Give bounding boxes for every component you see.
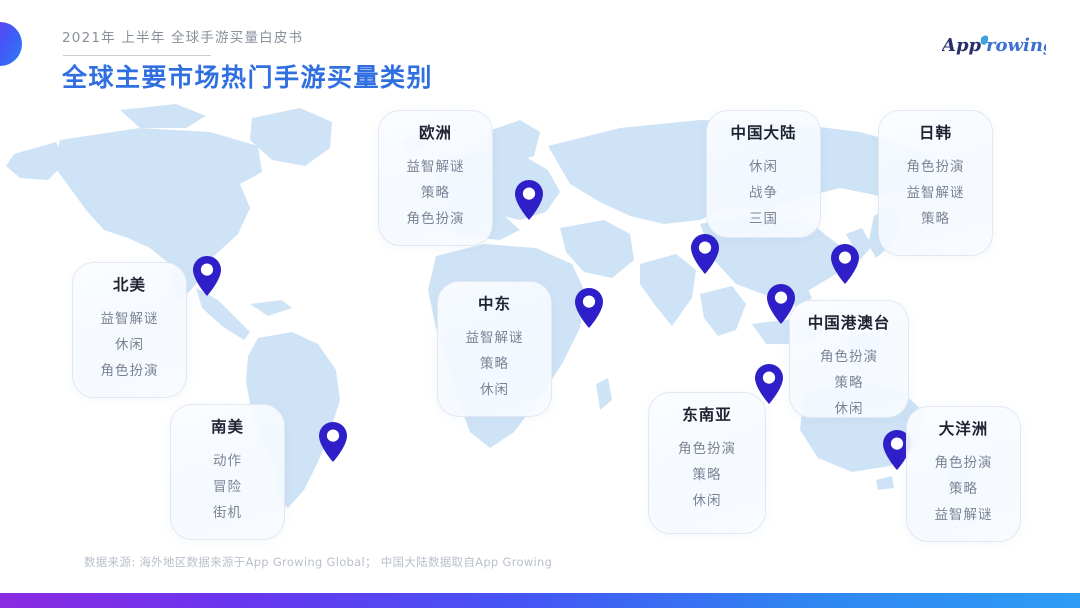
region-title: 中国大陆 xyxy=(717,124,810,143)
map-pin-south-america[interactable] xyxy=(316,420,350,464)
region-title: 日韩 xyxy=(889,124,982,143)
region-genre: 三国 xyxy=(717,206,810,232)
map-pin-north-america[interactable] xyxy=(190,254,224,298)
region-genre: 策略 xyxy=(800,370,898,396)
region-genre: 益智解谜 xyxy=(83,306,176,332)
data-source-note: 数据来源: 海外地区数据来源于App Growing Global； 中国大陆数… xyxy=(84,554,552,570)
region-genre: 休闲 xyxy=(448,377,541,403)
region-genre: 战争 xyxy=(717,180,810,206)
region-genre: 益智解谜 xyxy=(917,502,1010,528)
region-genre: 休闲 xyxy=(659,488,755,514)
region-genre: 角色扮演 xyxy=(389,206,482,232)
region-genre: 休闲 xyxy=(800,396,898,422)
region-genre: 角色扮演 xyxy=(917,450,1010,476)
header-divider xyxy=(63,55,211,56)
region-card-europe[interactable]: 欧洲 益智解谜 策略 角色扮演 xyxy=(378,110,493,246)
svg-text:rowing: rowing xyxy=(986,35,1046,56)
region-card-middle-east[interactable]: 中东 益智解谜 策略 休闲 xyxy=(437,281,552,417)
bottom-gradient-bar xyxy=(0,593,1080,608)
region-title: 欧洲 xyxy=(389,124,482,143)
region-genre: 策略 xyxy=(659,462,755,488)
corner-gradient-blob xyxy=(0,22,22,66)
region-card-south-america[interactable]: 南美 动作 冒险 街机 xyxy=(170,404,285,540)
region-card-oceania[interactable]: 大洋洲 角色扮演 策略 益智解谜 xyxy=(906,406,1021,542)
region-genre: 动作 xyxy=(181,448,274,474)
report-subtitle: 2021年 上半年 全球手游买量白皮书 xyxy=(62,26,433,46)
page-title: 全球主要市场热门手游买量类别 xyxy=(62,64,433,93)
region-card-greater-china[interactable]: 中国港澳台 角色扮演 策略 休闲 xyxy=(789,300,909,418)
app-growing-logo: App rowing xyxy=(942,30,1046,60)
svg-text:App: App xyxy=(942,35,982,56)
region-card-mainland-china[interactable]: 中国大陆 休闲 战争 三国 xyxy=(706,110,821,238)
region-genre: 益智解谜 xyxy=(889,180,982,206)
region-title: 中东 xyxy=(448,295,541,314)
region-genre: 策略 xyxy=(889,206,982,232)
map-pin-europe[interactable] xyxy=(512,178,546,222)
region-title: 东南亚 xyxy=(659,406,755,425)
region-genre: 街机 xyxy=(181,500,274,526)
region-genre: 策略 xyxy=(448,351,541,377)
region-genre: 角色扮演 xyxy=(83,358,176,384)
region-genre: 休闲 xyxy=(717,154,810,180)
region-title: 大洋洲 xyxy=(917,420,1010,439)
region-genre: 冒险 xyxy=(181,474,274,500)
region-genre: 益智解谜 xyxy=(389,154,482,180)
map-pin-middle-east[interactable] xyxy=(572,286,606,330)
region-genre: 角色扮演 xyxy=(889,154,982,180)
region-title: 北美 xyxy=(83,276,176,295)
region-genre: 角色扮演 xyxy=(659,436,755,462)
region-genre: 策略 xyxy=(389,180,482,206)
slide-canvas: 2021年 上半年 全球手游买量白皮书 全球主要市场热门手游买量类别 App r… xyxy=(0,0,1080,608)
region-card-japan-korea[interactable]: 日韩 角色扮演 益智解谜 策略 xyxy=(878,110,993,256)
region-title: 南美 xyxy=(181,418,274,437)
slide-header: 2021年 上半年 全球手游买量白皮书 全球主要市场热门手游买量类别 xyxy=(62,26,433,93)
region-genre: 角色扮演 xyxy=(800,344,898,370)
region-genre: 休闲 xyxy=(83,332,176,358)
map-pin-japan-korea[interactable] xyxy=(828,242,862,286)
region-card-north-america[interactable]: 北美 益智解谜 休闲 角色扮演 xyxy=(72,262,187,398)
region-genre: 益智解谜 xyxy=(448,325,541,351)
region-genre: 策略 xyxy=(917,476,1010,502)
region-card-southeast-asia[interactable]: 东南亚 角色扮演 策略 休闲 xyxy=(648,392,766,534)
map-pin-mainland-china[interactable] xyxy=(688,232,722,276)
region-title: 中国港澳台 xyxy=(800,314,898,333)
